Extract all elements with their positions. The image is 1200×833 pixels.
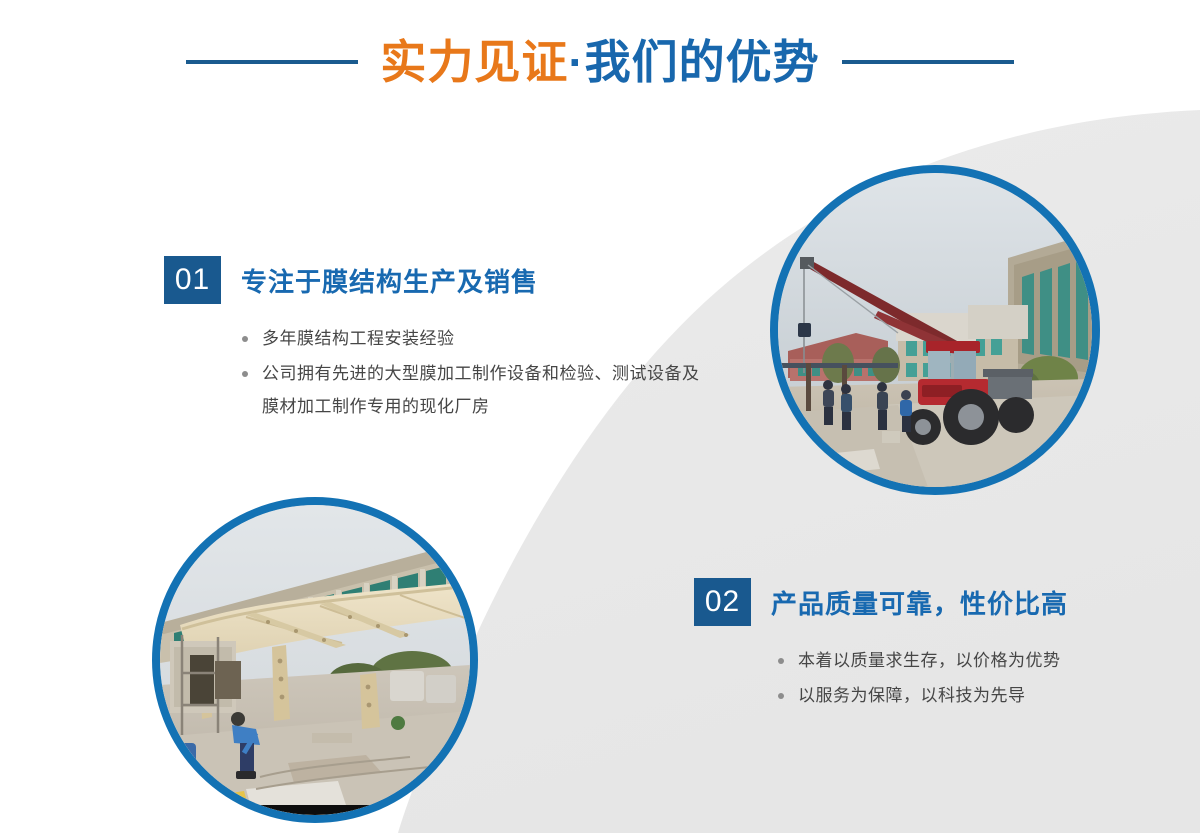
header-rule-left <box>186 60 358 64</box>
bullet-dot-icon <box>242 336 248 342</box>
bullet-dot-icon <box>778 658 784 664</box>
bullet-dot-icon <box>242 371 248 377</box>
bullet-text: 多年膜结构工程安装经验 <box>262 329 455 348</box>
list-item: 公司拥有先进的大型膜加工制作设备和检验、测试设备及膜材加工制作专用的现化厂房 <box>242 357 704 423</box>
crane-tractor-photo <box>770 165 1100 495</box>
page-title-separator: · <box>568 36 584 88</box>
list-item: 以服务为保障，以科技为先导 <box>778 679 1114 712</box>
membrane-canopy-photo-inner <box>160 505 470 815</box>
page-title-blue: 我们的优势 <box>585 36 820 88</box>
membrane-canopy-illustration <box>160 505 470 815</box>
bullet-text: 以服务为保障，以科技为先导 <box>798 686 1026 705</box>
membrane-canopy-photo <box>152 497 478 823</box>
page-title-orange: 实力见证 <box>380 36 568 88</box>
section-01-title: 专注于膜结构生产及销售 <box>241 262 538 299</box>
bullet-text: 本着以质量求生存，以价格为优势 <box>798 651 1061 670</box>
section-02-number-badge: 02 <box>694 578 751 626</box>
banner-header: 实力见证·我们的优势 <box>0 22 1200 102</box>
section-02-head: 02 产品质量可靠，性价比高 <box>694 578 1114 626</box>
list-item: 本着以质量求生存，以价格为优势 <box>778 644 1114 677</box>
advantages-banner: 实力见证·我们的优势 <box>0 0 1200 833</box>
bullet-dot-icon <box>778 693 784 699</box>
advantage-section-02: 02 产品质量可靠，性价比高 本着以质量求生存，以价格为优势 以服务为保障，以科… <box>694 578 1114 714</box>
section-01-bullet-list: 多年膜结构工程安装经验 公司拥有先进的大型膜加工制作设备和检验、测试设备及膜材加… <box>164 322 704 423</box>
section-01-number-badge: 01 <box>164 256 221 304</box>
crane-tractor-photo-inner <box>778 173 1092 487</box>
section-02-bullet-list: 本着以质量求生存，以价格为优势 以服务为保障，以科技为先导 <box>694 644 1114 712</box>
advantage-section-01: 01 专注于膜结构生产及销售 多年膜结构工程安装经验 公司拥有先进的大型膜加工制… <box>164 256 704 425</box>
list-item: 多年膜结构工程安装经验 <box>242 322 704 355</box>
section-01-head: 01 专注于膜结构生产及销售 <box>164 256 704 304</box>
crane-tractor-illustration <box>778 173 1092 487</box>
bullet-text: 公司拥有先进的大型膜加工制作设备和检验、测试设备及膜材加工制作专用的现化厂房 <box>262 364 700 416</box>
page-title: 实力见证·我们的优势 <box>380 39 819 85</box>
section-02-title: 产品质量可靠，性价比高 <box>771 584 1068 621</box>
header-rule-right <box>842 60 1014 64</box>
